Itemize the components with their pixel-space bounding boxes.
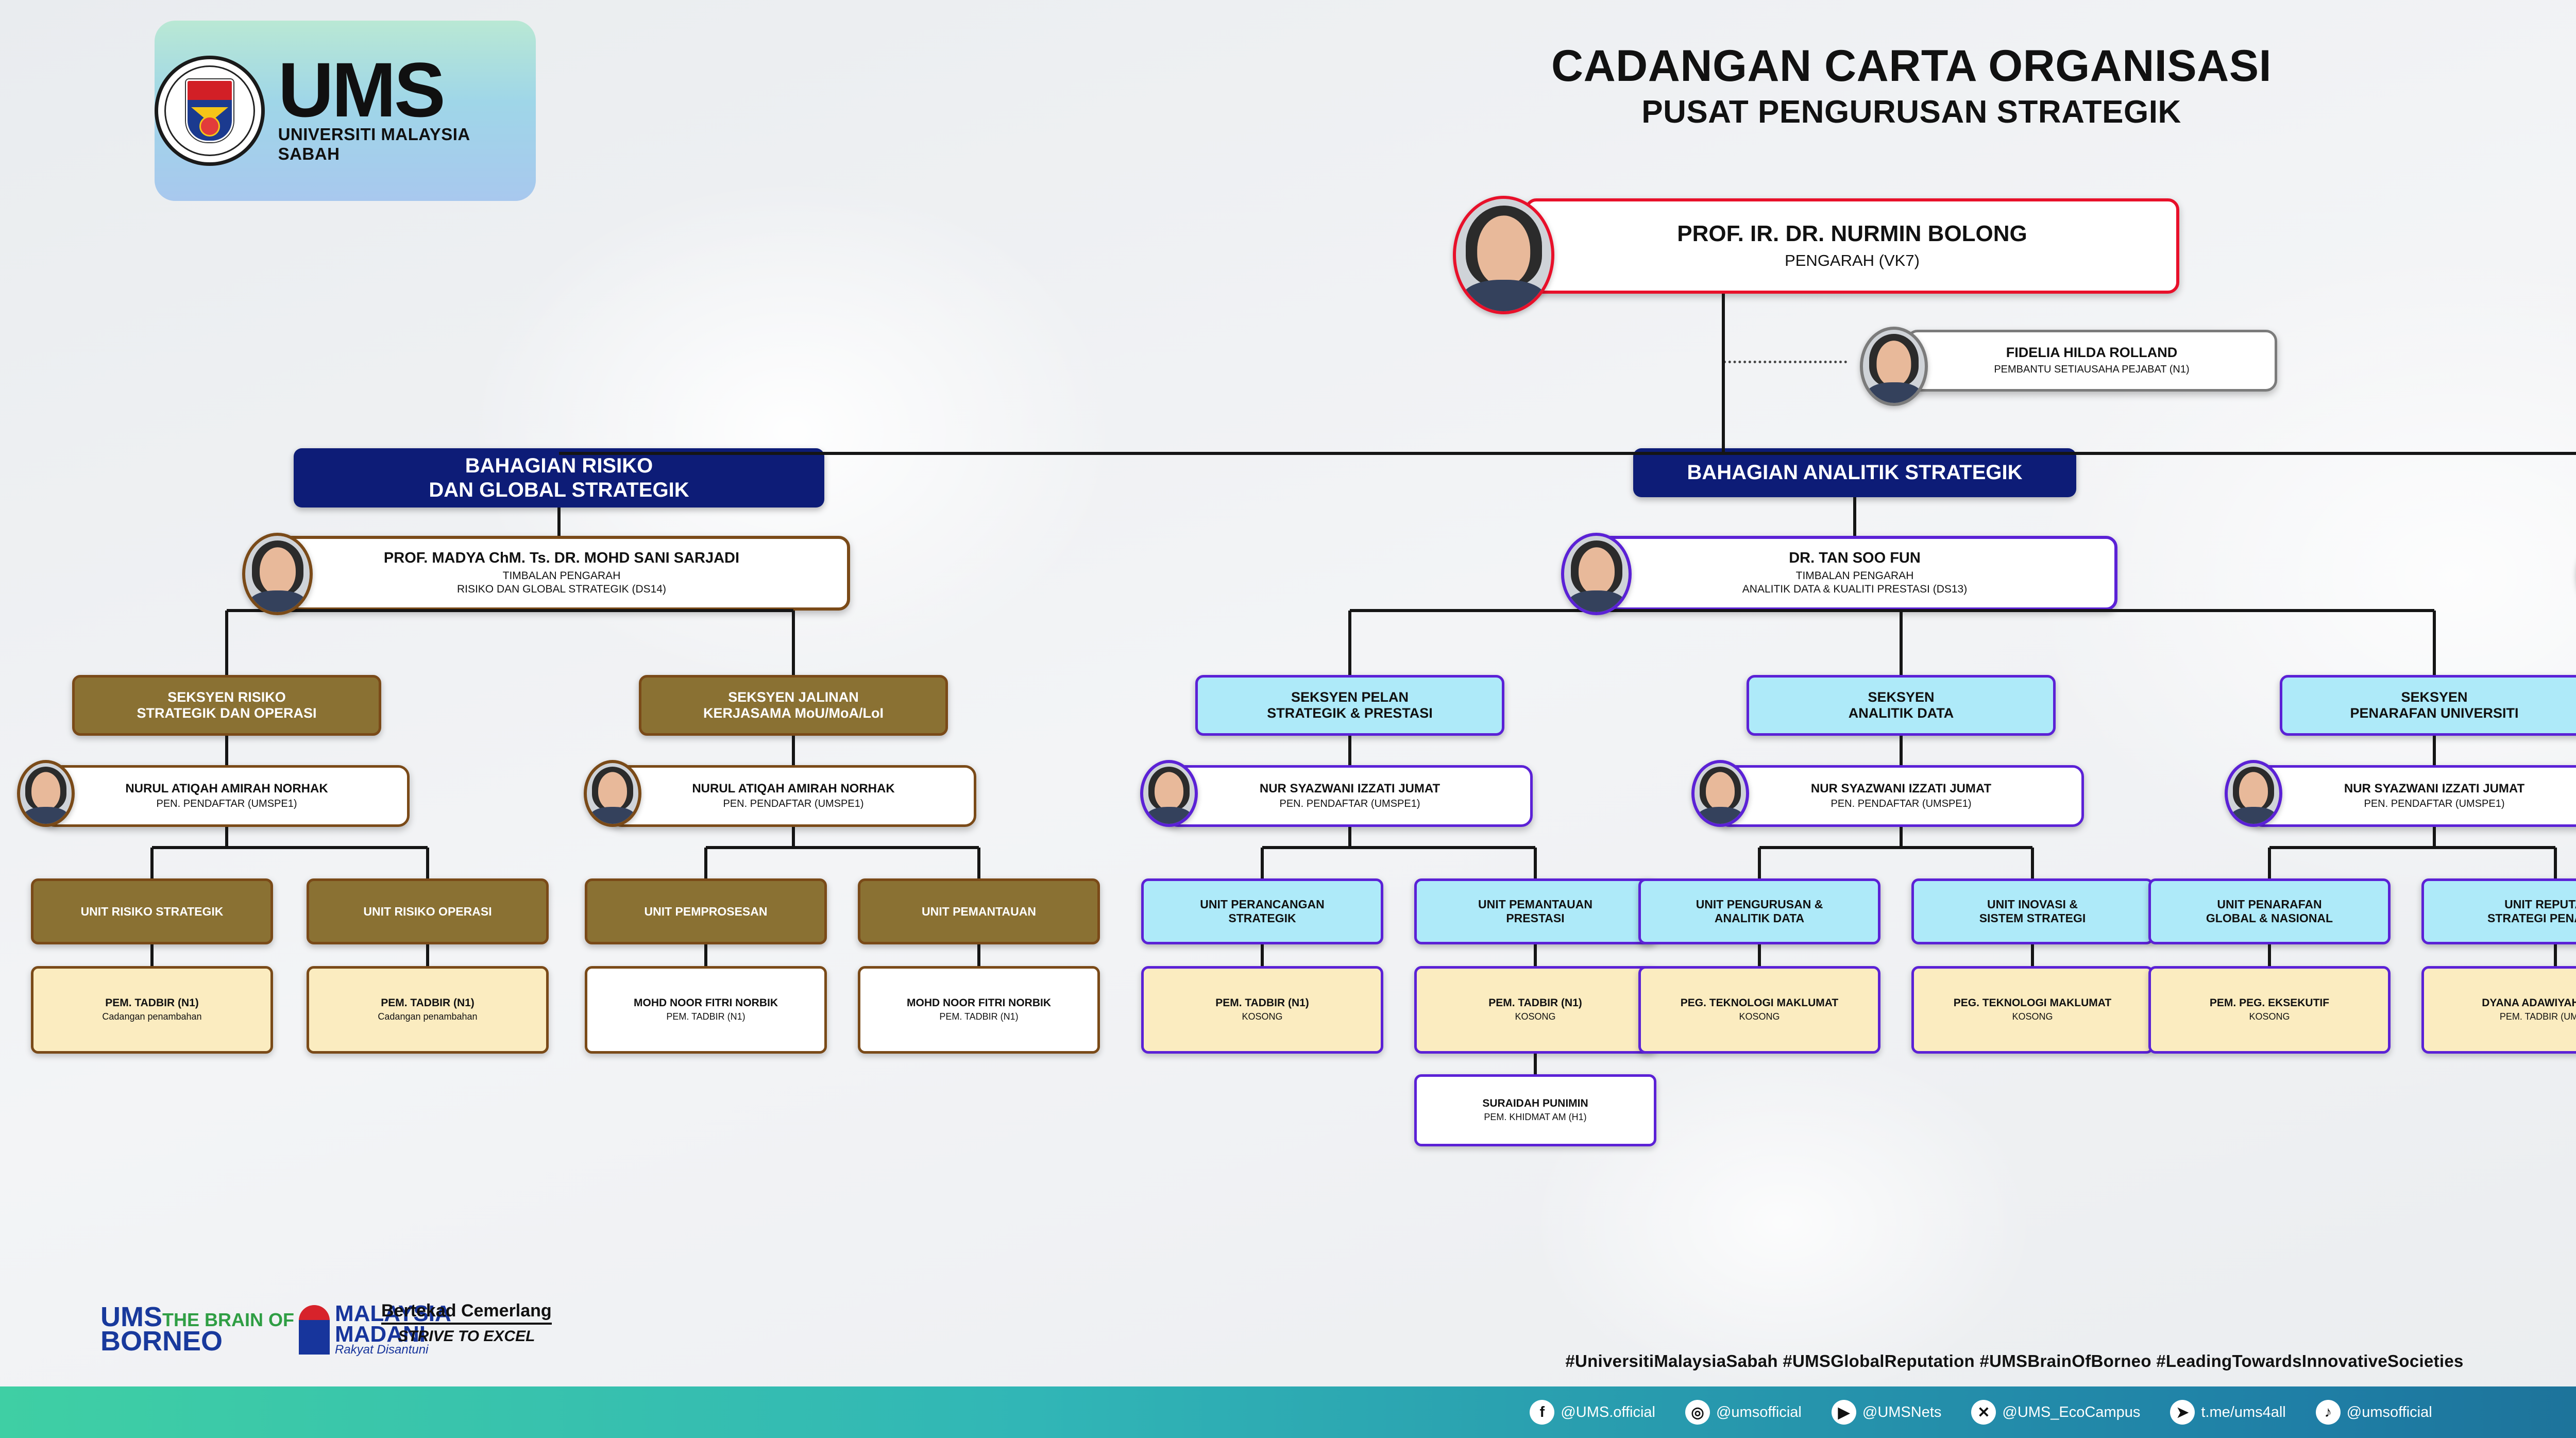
- division-header-0: BAHAGIAN RISIKODAN GLOBAL STRATEGIK: [294, 448, 824, 507]
- youtube-icon: ▶: [1832, 1400, 1856, 1425]
- social-handle: @UMSNets: [1862, 1404, 1942, 1421]
- section-to-head-3: [1900, 736, 1903, 765]
- section-drop-3: [1900, 611, 1903, 675]
- unit-box-pelan-strategik-prestasi-0: UNIT PERANCANGANSTRATEGIK: [1141, 878, 1383, 944]
- branch-to-unit: [2268, 848, 2271, 878]
- staff-name: PEM. TADBIR (N1): [1212, 997, 1312, 1009]
- section-name-line2: ANALITIK DATA: [1849, 705, 1954, 721]
- unit-to-staff: [1534, 944, 1537, 966]
- section-box-pelan-strategik-prestasi: SEKSYEN PELANSTRATEGIK & PRESTASI: [1195, 675, 1504, 736]
- unit-box-penarafan-universiti-1: UNIT REPUTASI &STRATEGI PENARAFAN: [2421, 878, 2576, 944]
- unit-box-penarafan-universiti-0: UNIT PENARAFANGLOBAL & NASIONAL: [2148, 878, 2391, 944]
- head-to-branch-4: [2433, 827, 2436, 848]
- section-drop-0: [225, 611, 228, 675]
- section-head-title: PEN. PENDAFTAR (UMSPE1): [2364, 798, 2505, 810]
- director-avatar: [1453, 196, 1554, 314]
- section-drop-4: [2433, 611, 2436, 675]
- deputy-director-box-1: DR. TAN SOO FUNTIMBALAN PENGARAHANALITIK…: [1592, 536, 2117, 611]
- staff-name: PEM. TADBIR (N1): [1485, 997, 1585, 1009]
- staff-name: DYANA ADAWIYAH ASMADY: [2479, 997, 2576, 1009]
- staff-title: Cadangan penambahan: [378, 1011, 477, 1023]
- section-head-avatar-2: [1140, 760, 1198, 827]
- section-branch-1: [559, 609, 793, 612]
- director-to-bus: [1722, 294, 1725, 453]
- section-head-name: NURUL ATIQAH AMIRAH NORHAK: [692, 782, 894, 796]
- branch-to-unit: [1261, 848, 1264, 878]
- secretary-dotted-link: [1723, 361, 1847, 363]
- head-to-branch-3: [1900, 827, 1903, 848]
- unit-name-line2: PRESTASI: [1506, 911, 1564, 925]
- staff-name: PEM. TADBIR (N1): [102, 997, 202, 1009]
- staff-name: PEG. TEKNOLOGI MAKLUMAT: [1677, 997, 1841, 1009]
- unit-name-line1: UNIT INOVASI &: [1987, 898, 2078, 911]
- branch-to-unit: [150, 848, 154, 878]
- branch-to-unit: [1758, 848, 1761, 878]
- section-to-head-0: [225, 736, 228, 765]
- division-bus: [559, 452, 2576, 455]
- unit-box-analitik-data-1: UNIT INOVASI &SISTEM STRATEGI: [1911, 878, 2154, 944]
- section-name-line2: PENARAFAN UNIVERSITI: [2350, 705, 2518, 721]
- staff-to-extra: [1534, 1054, 1537, 1074]
- deputy-name: PROF. MADYA ChM. Ts. DR. MOHD SANI SARJA…: [384, 550, 739, 567]
- staff-box-analitik-data-0: PEG. TEKNOLOGI MAKLUMATKOSONG: [1638, 966, 1880, 1054]
- section-box-penarafan-universiti: SEKSYENPENARAFAN UNIVERSITI: [2280, 675, 2576, 736]
- social-handle: @umsofficial: [1716, 1404, 1802, 1421]
- unit-to-staff: [150, 944, 154, 966]
- section-name-line1: SEKSYEN: [1868, 689, 1934, 705]
- social-media-row: f@UMS.official◎@umsofficial▶@UMSNets✕@UM…: [0, 1386, 2576, 1438]
- section-head-avatar-0: [17, 760, 75, 827]
- unit-name-line1: UNIT RISIKO STRATEGIK: [81, 905, 224, 919]
- division-to-deputy: [1853, 497, 1856, 536]
- deputy-avatar-1: [1561, 533, 1632, 615]
- staff-name: MOHD NOOR FITRI NORBIK: [631, 997, 781, 1009]
- section-head-name: NUR SYAZWANI IZZATI JUMAT: [1811, 782, 1991, 796]
- staff-box-penarafan-universiti-1: DYANA ADAWIYAH ASMADYPEM. TADBIR (UMSPPE…: [2421, 966, 2576, 1054]
- section-drop-1: [792, 611, 795, 675]
- social-link[interactable]: ◎@umsofficial: [1685, 1400, 1802, 1425]
- unit-name-line1: UNIT PENARAFAN: [2217, 898, 2321, 911]
- deputy-title-2: RISIKO DAN GLOBAL STRATEGIK (DS14): [457, 583, 666, 596]
- secretary-avatar: [1860, 327, 1928, 406]
- social-link[interactable]: ♪@umsofficial: [2316, 1400, 2432, 1425]
- division-to-deputy: [557, 507, 561, 536]
- staff-name: PEM. PEG. EKSEKUTIF: [2207, 997, 2332, 1009]
- unit-name-line2: GLOBAL & NASIONAL: [2206, 911, 2333, 925]
- section-head-avatar-3: [1691, 760, 1749, 827]
- division-header-line2: DAN GLOBAL STRATEGIK: [429, 478, 689, 502]
- unit-name-line1: UNIT PEMPROSESAN: [645, 905, 768, 919]
- staff-box-analitik-data-1: PEG. TEKNOLOGI MAKLUMATKOSONG: [1911, 966, 2154, 1054]
- section-name-line1: SEKSYEN: [2401, 689, 2467, 705]
- secretary-name: FIDELIA HILDA ROLLAND: [2006, 345, 2177, 361]
- staff-box-risiko-strategik-operasi-0: PEM. TADBIR (N1)Cadangan penambahan: [31, 966, 273, 1054]
- unit-to-staff: [977, 944, 980, 966]
- section-box-jalinan-kerjasama: SEKSYEN JALINANKERJASAMA MoU/MoA/LoI: [639, 675, 948, 736]
- branch-to-unit: [704, 848, 707, 878]
- section-to-head-2: [1348, 736, 1351, 765]
- unit-name-line2: STRATEGI PENARAFAN: [2487, 911, 2576, 925]
- unit-to-staff: [1261, 944, 1264, 966]
- unit-name-line2: STRATEGIK: [1228, 911, 1296, 925]
- section-head-name: NUR SYAZWANI IZZATI JUMAT: [1260, 782, 1440, 796]
- unit-to-staff: [426, 944, 429, 966]
- social-link[interactable]: ▶@UMSNets: [1832, 1400, 1942, 1425]
- unit-name-line1: UNIT PEMANTAUAN: [1478, 898, 1592, 911]
- director-title: PENGARAH (VK7): [1785, 251, 1920, 270]
- tiktok-icon: ♪: [2316, 1400, 2341, 1425]
- x-twitter-icon: ✕: [1971, 1400, 1996, 1425]
- unit-name-line1: UNIT PEMANTAUAN: [922, 905, 1036, 919]
- unit-name-line2: ANALITIK DATA: [1715, 911, 1804, 925]
- social-handle: t.me/ums4all: [2201, 1404, 2285, 1421]
- social-link[interactable]: ✕@UMS_EcoCampus: [1971, 1400, 2140, 1425]
- director-name: PROF. IR. DR. NURMIN BOLONG: [1677, 222, 2027, 246]
- section-head-avatar-4: [2225, 760, 2282, 827]
- branch-to-unit: [977, 848, 980, 878]
- section-name-line1: SEKSYEN PELAN: [1291, 689, 1409, 705]
- deputy-director-box-0: PROF. MADYA ChM. Ts. DR. MOHD SANI SARJA…: [273, 536, 850, 611]
- section-branch-4: [1855, 609, 2434, 612]
- staff-title: PEM. TADBIR (UMSPPE1): [2500, 1011, 2576, 1023]
- unit-name-line2: SISTEM STRATEGI: [1979, 911, 2086, 925]
- unit-name-line1: UNIT PERANCANGAN: [1200, 898, 1325, 911]
- staff-title: KOSONG: [2012, 1011, 2053, 1023]
- unit-box-risiko-strategik-operasi-1: UNIT RISIKO OPERASI: [307, 878, 549, 944]
- section-box-analitik-data: SEKSYENANALITIK DATA: [1747, 675, 2056, 736]
- social-handle: @UMS_EcoCampus: [2002, 1404, 2140, 1421]
- staff-name: PEM. TADBIR (N1): [378, 997, 478, 1009]
- section-to-head-1: [792, 736, 795, 765]
- staff-title: KOSONG: [1242, 1011, 1282, 1023]
- branch-to-unit: [2554, 848, 2557, 878]
- section-drop-2: [1348, 611, 1351, 675]
- extra-staff-box-pelan-strategik-prestasi-1: SURAIDAH PUNIMINPEM. KHIDMAT AM (H1): [1414, 1074, 1656, 1146]
- staff-box-penarafan-universiti-0: PEM. PEG. EKSEKUTIFKOSONG: [2148, 966, 2391, 1054]
- deputy-avatar-0: [242, 533, 313, 615]
- social-link[interactable]: f@UMS.official: [1530, 1400, 1655, 1425]
- unit-branch-3: [1759, 846, 2032, 849]
- section-head-box-pelan-strategik-prestasi: NUR SYAZWANI IZZATI JUMATPEN. PENDAFTAR …: [1167, 765, 1533, 827]
- head-to-branch-0: [225, 827, 228, 848]
- staff-title: Cadangan penambahan: [102, 1011, 201, 1023]
- extra-staff-name: SURAIDAH PUNIMIN: [1482, 1097, 1588, 1109]
- unit-box-analitik-data-0: UNIT PENGURUSAN &ANALITIK DATA: [1638, 878, 1880, 944]
- section-head-title: PEN. PENDAFTAR (UMSPE1): [1831, 798, 1972, 810]
- branch-to-unit: [1534, 848, 1537, 878]
- staff-title: KOSONG: [2249, 1011, 2290, 1023]
- unit-name-line1: UNIT PENGURUSAN &: [1696, 898, 1823, 911]
- deputy-title-1: TIMBALAN PENGARAH: [503, 569, 621, 583]
- staff-title: PEM. TADBIR (N1): [939, 1011, 1018, 1023]
- head-to-branch-1: [792, 827, 795, 848]
- staff-box-jalinan-kerjasama-0: MOHD NOOR FITRI NORBIKPEM. TADBIR (N1): [585, 966, 827, 1054]
- section-head-name: NUR SYAZWANI IZZATI JUMAT: [2344, 782, 2524, 796]
- unit-box-pelan-strategik-prestasi-1: UNIT PEMANTAUANPRESTASI: [1414, 878, 1656, 944]
- section-head-title: PEN. PENDAFTAR (UMSPE1): [1280, 798, 1420, 810]
- section-name-line1: SEKSYEN RISIKO: [167, 689, 286, 705]
- section-head-box-analitik-data: NUR SYAZWANI IZZATI JUMATPEN. PENDAFTAR …: [1718, 765, 2084, 827]
- deputy-title-1: TIMBALAN PENGARAH: [1796, 569, 1914, 583]
- social-link[interactable]: ➤t.me/ums4all: [2170, 1400, 2285, 1425]
- staff-name: PEG. TEKNOLOGI MAKLUMAT: [1951, 997, 2114, 1009]
- section-head-title: PEN. PENDAFTAR (UMSPE1): [723, 798, 864, 810]
- unit-to-staff: [1758, 944, 1761, 966]
- staff-box-pelan-strategik-prestasi-1: PEM. TADBIR (N1)KOSONG: [1414, 966, 1656, 1054]
- section-name-line2: KERJASAMA MoU/MoA/LoI: [703, 705, 884, 721]
- section-name-line1: SEKSYEN JALINAN: [728, 689, 859, 705]
- unit-box-risiko-strategik-operasi-0: UNIT RISIKO STRATEGIK: [31, 878, 273, 944]
- unit-to-staff: [2031, 944, 2034, 966]
- section-head-box-jalinan-kerjasama: NURUL ATIQAH AMIRAH NORHAKPEN. PENDAFTAR…: [611, 765, 976, 827]
- staff-box-risiko-strategik-operasi-1: PEM. TADBIR (N1)Cadangan penambahan: [307, 966, 549, 1054]
- unit-name-line1: UNIT REPUTASI &: [2504, 898, 2576, 911]
- staff-title: KOSONG: [1739, 1011, 1780, 1023]
- staff-title: KOSONG: [1515, 1011, 1555, 1023]
- staff-box-pelan-strategik-prestasi-0: PEM. TADBIR (N1)KOSONG: [1141, 966, 1383, 1054]
- staff-box-jalinan-kerjasama-1: MOHD NOOR FITRI NORBIKPEM. TADBIR (N1): [858, 966, 1100, 1054]
- unit-name-line1: UNIT RISIKO OPERASI: [363, 905, 492, 919]
- section-head-box-risiko-strategik-operasi: NURUL ATIQAH AMIRAH NORHAKPEN. PENDAFTAR…: [44, 765, 410, 827]
- unit-to-staff: [704, 944, 707, 966]
- section-head-avatar-1: [584, 760, 641, 827]
- chart-canvas: PROF. IR. DR. NURMIN BOLONGPENGARAH (VK7…: [0, 0, 2576, 1438]
- section-head-box-penarafan-universiti: NUR SYAZWANI IZZATI JUMATPEN. PENDAFTAR …: [2251, 765, 2576, 827]
- social-handle: @umsofficial: [2347, 1404, 2432, 1421]
- unit-branch-0: [152, 846, 428, 849]
- extra-staff-title: PEM. KHIDMAT AM (H1): [1484, 1112, 1586, 1123]
- division-header-1: BAHAGIAN ANALITIK STRATEGIK: [1633, 448, 2076, 497]
- branch-to-unit: [426, 848, 429, 878]
- social-handle: @UMS.official: [1561, 1404, 1655, 1421]
- unit-branch-4: [2269, 846, 2555, 849]
- deputy-name: DR. TAN SOO FUN: [1789, 550, 1921, 567]
- unit-to-staff: [2554, 944, 2557, 966]
- section-name-line2: STRATEGIK DAN OPERASI: [137, 705, 316, 721]
- secretary-box: FIDELIA HILDA ROLLANDPEMBANTU SETIAUSAHA…: [1906, 330, 2277, 392]
- unit-branch-2: [1262, 846, 1535, 849]
- section-name-line2: STRATEGIK & PRESTASI: [1267, 705, 1433, 721]
- section-head-name: NURUL ATIQAH AMIRAH NORHAK: [125, 782, 328, 796]
- staff-title: PEM. TADBIR (N1): [666, 1011, 745, 1023]
- branch-to-unit: [2031, 848, 2034, 878]
- telegram-icon: ➤: [2170, 1400, 2195, 1425]
- section-box-risiko-strategik-operasi: SEKSYEN RISIKOSTRATEGIK DAN OPERASI: [72, 675, 381, 736]
- section-head-title: PEN. PENDAFTAR (UMSPE1): [157, 798, 297, 810]
- staff-name: MOHD NOOR FITRI NORBIK: [904, 997, 1054, 1009]
- facebook-icon: f: [1530, 1400, 1554, 1425]
- instagram-icon: ◎: [1685, 1400, 1710, 1425]
- unit-box-jalinan-kerjasama-0: UNIT PEMPROSESAN: [585, 878, 827, 944]
- section-to-head-4: [2433, 736, 2436, 765]
- deputy-title-2: ANALITIK DATA & KUALITI PRESTASI (DS13): [1742, 583, 1967, 596]
- division-header-line1: BAHAGIAN ANALITIK STRATEGIK: [1687, 461, 2022, 484]
- unit-branch-1: [706, 846, 979, 849]
- director-box: PROF. IR. DR. NURMIN BOLONGPENGARAH (VK7…: [1525, 198, 2179, 294]
- unit-box-jalinan-kerjasama-1: UNIT PEMANTAUAN: [858, 878, 1100, 944]
- head-to-branch-2: [1348, 827, 1351, 848]
- secretary-title: PEMBANTU SETIAUSAHA PEJABAT (N1): [1994, 363, 2189, 376]
- unit-to-staff: [2268, 944, 2271, 966]
- division-header-line1: BAHAGIAN RISIKO: [465, 454, 653, 478]
